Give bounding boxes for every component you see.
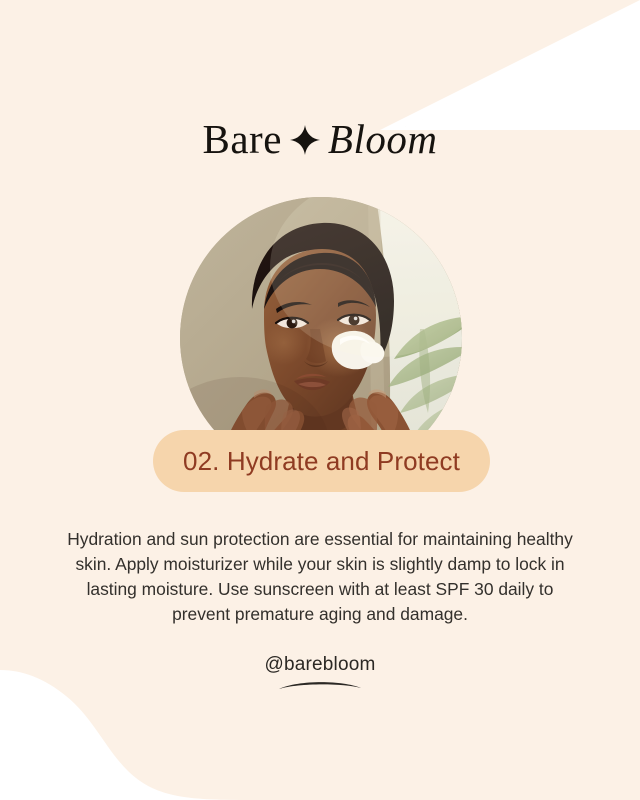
logo-word-bare: Bare [203, 119, 282, 160]
corner-blob-top-right [380, 0, 640, 130]
brand-logo: Bare Bloom [0, 119, 640, 160]
corner-blob-bottom-left [0, 670, 260, 800]
step-title-pill: 02. Hydrate and Protect [153, 430, 490, 492]
logo-word-bloom: Bloom [328, 119, 438, 160]
body-paragraph: Hydration and sun protection are essenti… [58, 527, 582, 627]
four-pointed-star-icon [290, 125, 320, 155]
social-handle: @barebloom [0, 654, 640, 676]
step-title-text: 02. Hydrate and Protect [183, 446, 460, 477]
swoosh-underline-icon [278, 678, 362, 692]
poster-canvas: Bare Bloom [0, 0, 640, 800]
